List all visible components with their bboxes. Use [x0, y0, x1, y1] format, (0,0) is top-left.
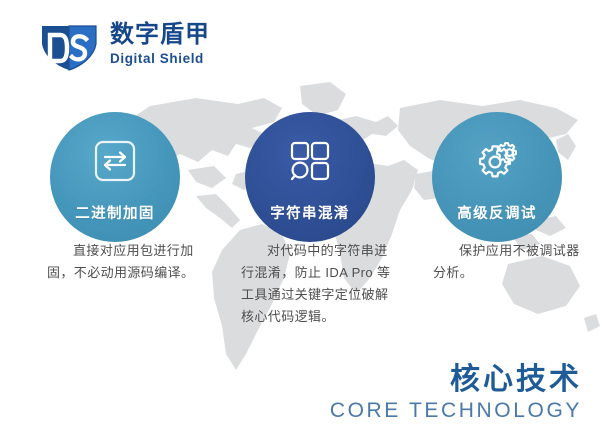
feature-circle-binary-hardening[interactable]: 二进制加固 — [50, 112, 180, 242]
section-heading-en: CORE TECHNOLOGY — [330, 398, 582, 424]
grid-squares-icon — [287, 138, 333, 184]
shield-ds-logo-icon — [36, 22, 102, 74]
slide-canvas: 数字盾甲 Digital Shield 二进制加固 字符串混淆 — [0, 0, 600, 442]
feature-label-binary-hardening: 二进制加固 — [75, 202, 155, 223]
feature-description-advanced-anti-debug: 保护应用不被调试器分析。 — [433, 240, 585, 284]
feature-label-string-obfuscation: 字符串混淆 — [270, 202, 350, 223]
bidirectional-arrows-icon — [92, 138, 138, 184]
section-heading: 核心技术 CORE TECHNOLOGY — [330, 362, 582, 424]
feature-circle-advanced-anti-debug[interactable]: 高级反调试 — [432, 112, 562, 242]
feature-description-string-obfuscation: 对代码中的字符串进行混淆，防止 IDA Pro 等工具通过关键字定位破解核心代码… — [241, 240, 393, 328]
feature-label-advanced-anti-debug: 高级反调试 — [457, 202, 537, 223]
feature-circle-string-obfuscation[interactable]: 字符串混淆 — [245, 112, 375, 242]
brand-logo-text: 数字盾甲 Digital Shield — [110, 20, 240, 68]
section-heading-cn: 核心技术 — [330, 362, 582, 398]
brand-logo[interactable]: 数字盾甲 Digital Shield — [36, 20, 236, 76]
gears-icon — [474, 138, 520, 184]
brand-name-en: Digital Shield — [110, 50, 240, 68]
brand-name-cn: 数字盾甲 — [110, 20, 240, 50]
feature-description-binary-hardening: 直接对应用包进行加固，不必动用源码编译。 — [47, 240, 199, 284]
